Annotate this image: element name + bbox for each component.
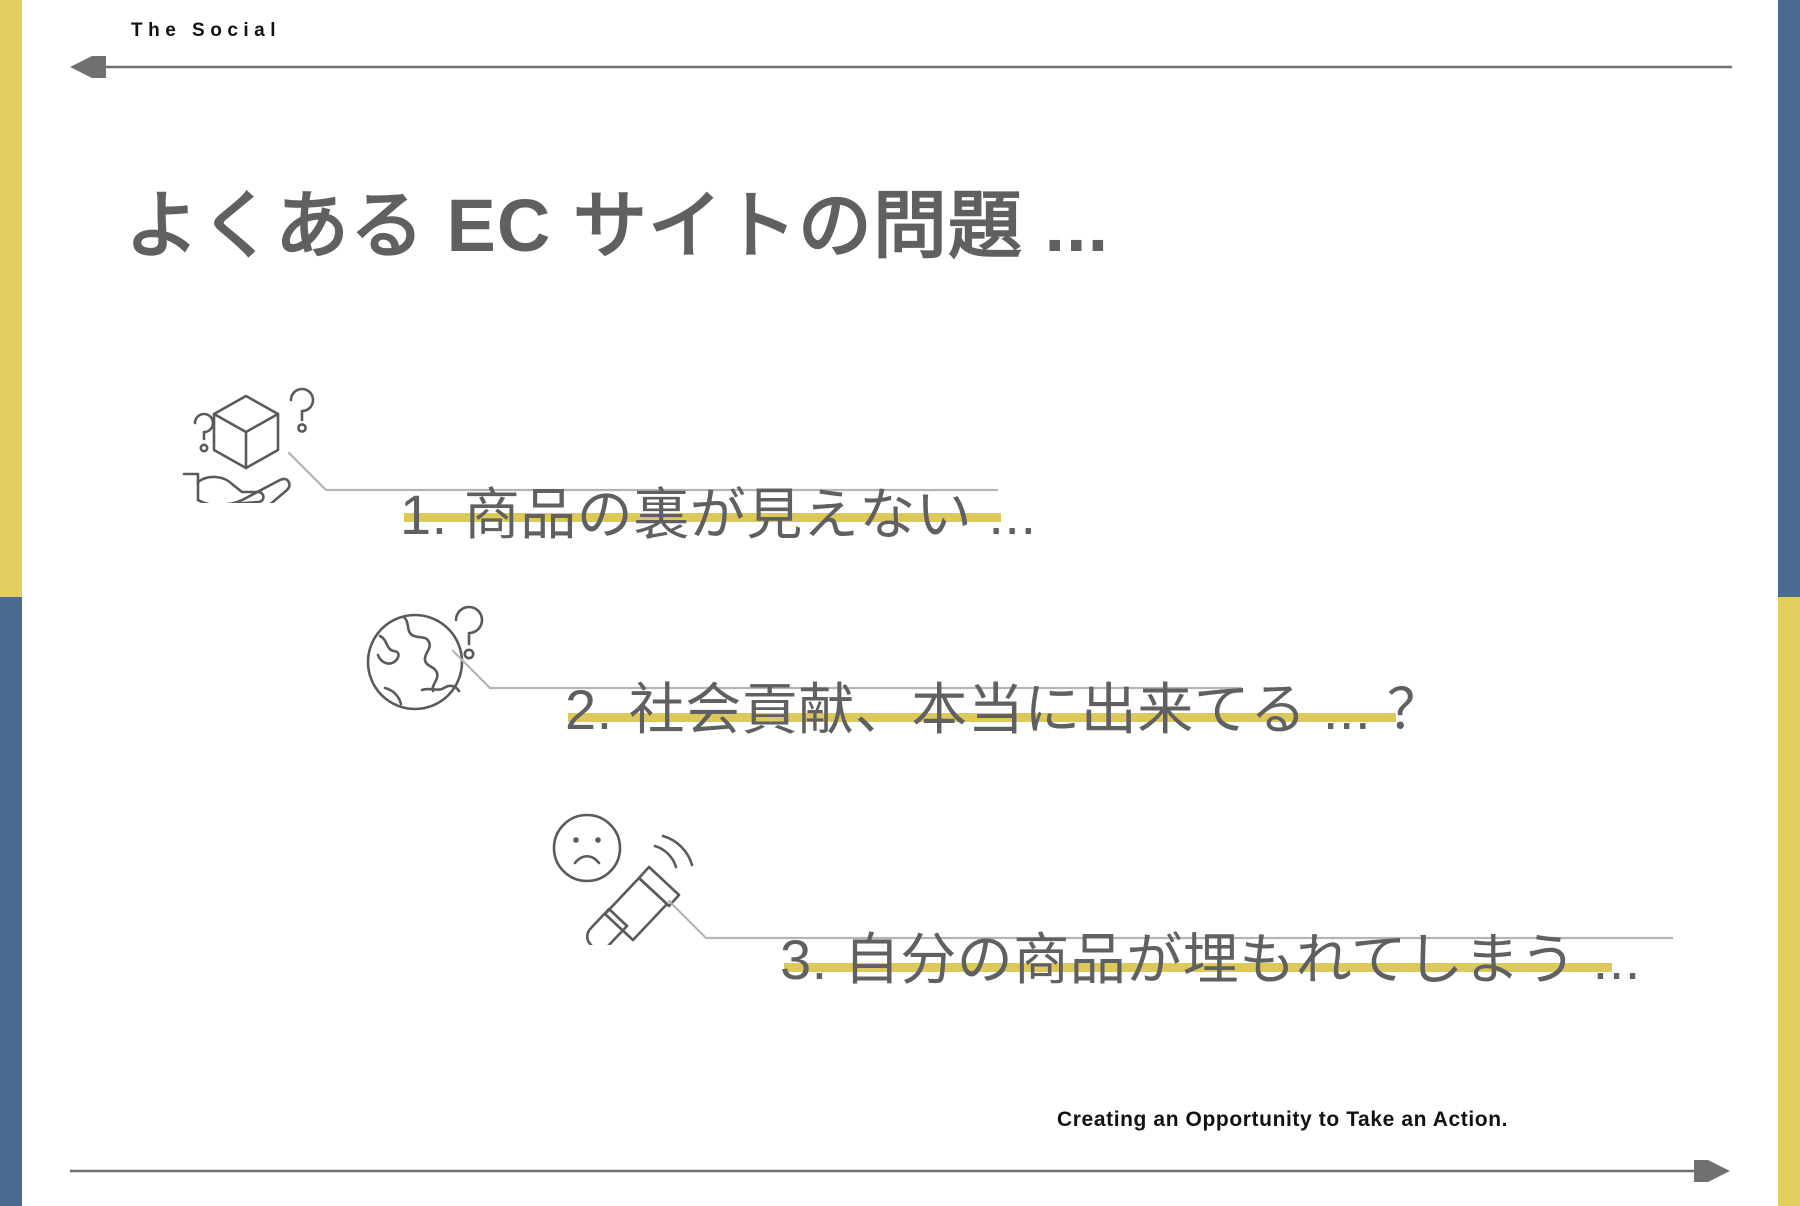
left-edge-bar <box>0 0 22 1206</box>
left-edge-blue-segment <box>0 597 22 1206</box>
page-title: よくある EC サイトの問題 ... <box>125 185 1109 266</box>
right-edge-yellow-segment <box>1778 597 1800 1206</box>
item-2-label: 2. 社会貢献、本当に出来てる ... ？ <box>565 665 1444 746</box>
right-edge-bar <box>1778 0 1800 1206</box>
slide-canvas: The Social よくある EC サイトの問題 ... <box>0 0 1800 1206</box>
item-2-text-wrap: 2. 社会貢献、本当に出来てる ... ？ <box>565 665 1444 746</box>
item-3-text-wrap: 3. 自分の商品が埋もれてしまう ... <box>780 915 1641 996</box>
item-1-text-wrap: 1. 商品の裏が見えない ... <box>400 470 1037 551</box>
footer-tagline: Creating an Opportunity to Take an Actio… <box>1057 1108 1508 1132</box>
footer-right-arrow-rule <box>70 1160 1730 1182</box>
left-edge-yellow-segment <box>0 0 22 597</box>
header-left-arrow-rule <box>70 56 1732 78</box>
right-edge-blue-segment <box>1778 0 1800 597</box>
item-3-label: 3. 自分の商品が埋もれてしまう ... <box>780 915 1641 996</box>
item-1-label: 1. 商品の裏が見えない ... <box>400 470 1037 551</box>
header-brand-label: The Social <box>131 20 281 42</box>
